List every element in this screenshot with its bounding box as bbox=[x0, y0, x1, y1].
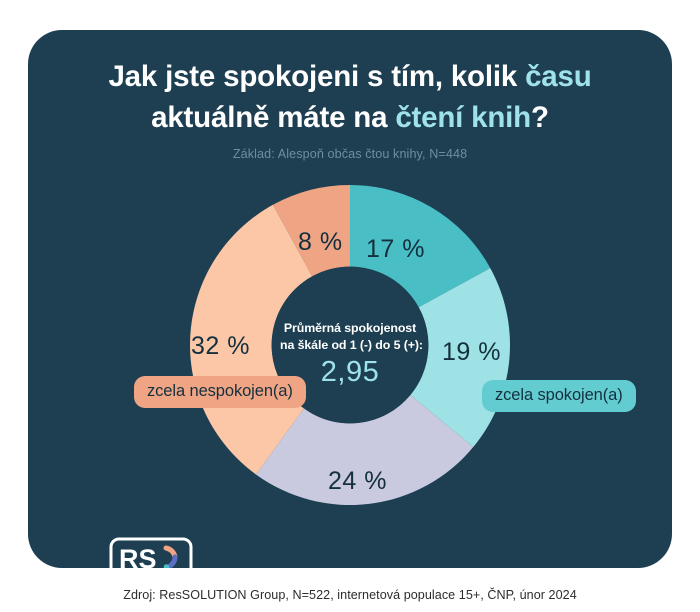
title-text-accent-2: čtení knih bbox=[395, 101, 531, 134]
callout-zcela-spokojen[interactable]: zcela spokojen(a) bbox=[482, 380, 636, 412]
value-label-spise-nespokojen: 32 % bbox=[191, 332, 250, 361]
infographic-root: Jak jste spokojeni s tím, kolik času akt… bbox=[0, 0, 700, 612]
logo-text: RS bbox=[119, 544, 157, 568]
source-note: Zdroj: ResSOLUTION Group, N=522, interne… bbox=[0, 588, 700, 602]
donut-chart: Průměrná spokojenost na škále od 1 (-) d… bbox=[28, 180, 672, 510]
title-block: Jak jste spokojeni s tím, kolik času akt… bbox=[28, 56, 672, 161]
value-label-spise-spokojen: 19 % bbox=[442, 338, 501, 367]
page-title-line-1: Jak jste spokojeni s tím, kolik času bbox=[28, 56, 672, 97]
value-label-zcela-spokojen: 17 % bbox=[366, 235, 425, 264]
logo-arc-blue bbox=[171, 557, 176, 566]
value-label-zcela-nespokojen: 8 % bbox=[298, 228, 343, 257]
chart-panel: Jak jste spokojeni s tím, kolik času akt… bbox=[28, 30, 672, 568]
title-text-tail: ? bbox=[531, 101, 549, 134]
title-text-plain-2: aktuálně máte na bbox=[151, 101, 395, 134]
value-label-ani-tak: 24 % bbox=[328, 467, 387, 496]
callout-zcela-nespokojen[interactable]: zcela nespokojen(a) bbox=[134, 376, 306, 408]
ressolution-logo: RS bbox=[109, 537, 193, 568]
page-title-line-2: aktuálně máte na čtení knih? bbox=[28, 97, 672, 138]
title-text-plain-1: Jak jste spokojeni s tím, kolik bbox=[108, 60, 525, 93]
title-text-accent-1: času bbox=[525, 60, 591, 93]
chart-subtitle: Základ: Alespoň občas čtou knihy, N=448 bbox=[28, 147, 672, 161]
